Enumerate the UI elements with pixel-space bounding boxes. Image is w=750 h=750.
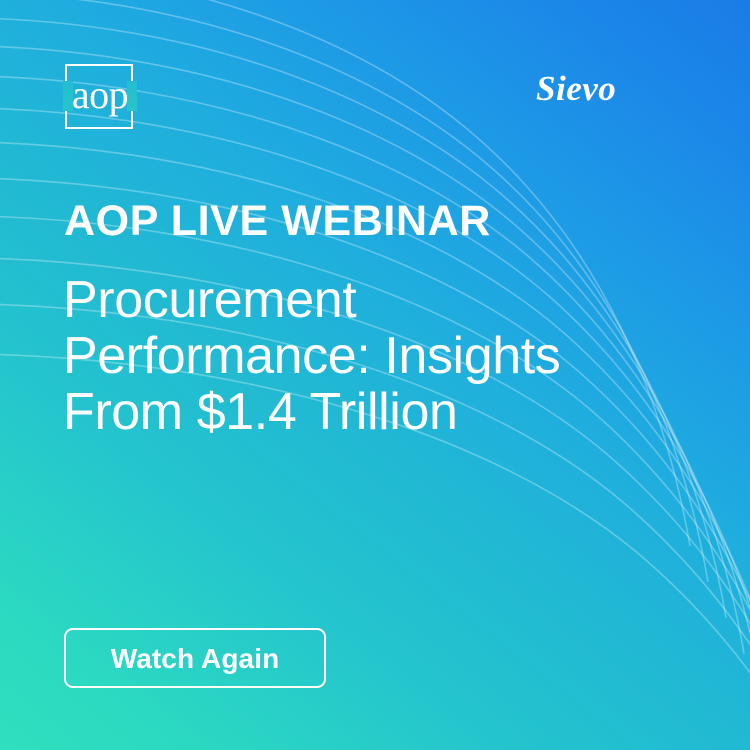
watch-again-button[interactable]: Watch Again — [64, 628, 326, 688]
webinar-promo-card: aop Sievo AOP LIVE WEBINAR Procurement P… — [0, 0, 750, 750]
headline-line-2: Performance: Insights — [63, 328, 663, 384]
sievo-logo: Sievo — [536, 70, 616, 108]
headline-line-3: From $1.4 Trillion — [63, 384, 663, 440]
aop-wordmark: aop — [64, 75, 136, 115]
page-title: Procurement Performance: Insights From $… — [63, 272, 663, 440]
aop-logo: aop — [65, 62, 135, 132]
headline-line-1: Procurement — [63, 272, 663, 328]
eyebrow-label: AOP LIVE WEBINAR — [64, 196, 491, 246]
